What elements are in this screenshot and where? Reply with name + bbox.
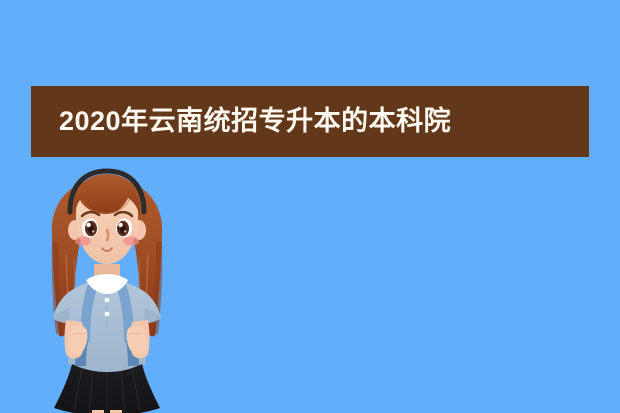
- image-canvas: 2020年云南统招专升本的本科院: [0, 0, 620, 413]
- blush-right: [123, 236, 139, 245]
- eye-right: [116, 219, 132, 238]
- title-banner: 2020年云南统招专升本的本科院: [31, 86, 589, 157]
- shirt-button-1: [105, 298, 110, 303]
- eye-left: [82, 219, 98, 238]
- blush-left: [75, 236, 91, 245]
- shirt-button-2: [105, 312, 110, 317]
- schoolgirl-illustration: [22, 168, 192, 413]
- nose: [107, 230, 108, 240]
- banner-title-text: 2020年云南统招专升本的本科院: [31, 108, 451, 135]
